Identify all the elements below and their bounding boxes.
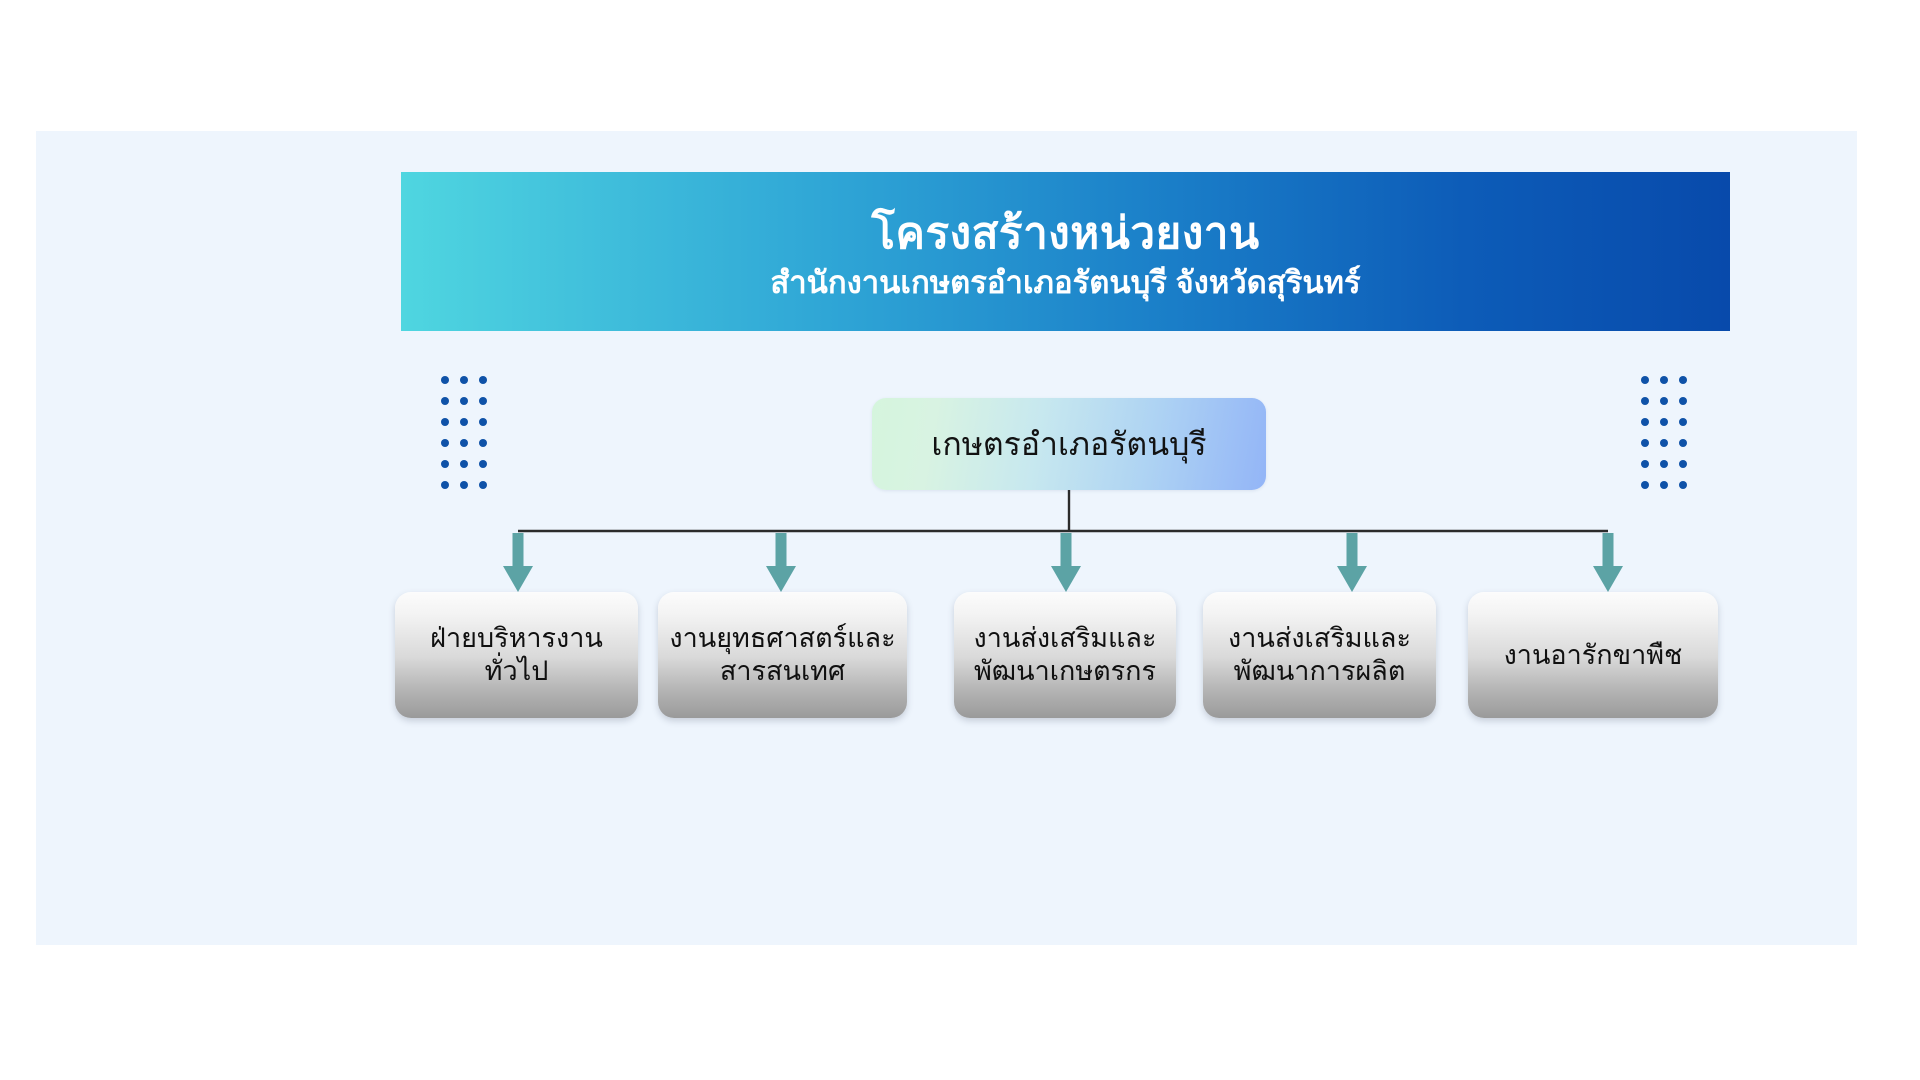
- org-node-label: งานส่งเสริมและ พัฒนาการผลิต: [1228, 622, 1411, 688]
- org-node-label: งานอารักขาพืช: [1504, 639, 1683, 672]
- org-node-ngan-songsoem-lae-phatthana-kasettrakon[interactable]: งานส่งเสริมและ พัฒนาเกษตรกร: [954, 592, 1176, 718]
- org-node-label: ฝ่ายบริหารงานทั่วไป: [405, 622, 628, 688]
- org-node-ngan-songsoem-lae-phatthanakan-phalit[interactable]: งานส่งเสริมและ พัฒนาการผลิต: [1203, 592, 1436, 718]
- org-node-ngan-arakkha-phuet[interactable]: งานอารักขาพืช: [1468, 592, 1718, 718]
- org-node-label: งานยุทธศาสตร์และ สารสนเทศ: [669, 622, 895, 688]
- diagram-stage: โครงสร้างหน่วยงาน สำนักงานเกษตรอำเภอรัตน…: [0, 0, 1920, 1080]
- org-node-phai-borihan-ngan-thuapai[interactable]: ฝ่ายบริหารงานทั่วไป: [395, 592, 638, 718]
- org-node-ngan-yutthasat-lae-sarasonthet[interactable]: งานยุทธศาสตร์และ สารสนเทศ: [658, 592, 907, 718]
- org-child-nodes: ฝ่ายบริหารงานทั่วไปงานยุทธศาสตร์และ สารส…: [0, 0, 1920, 1080]
- org-node-label: งานส่งเสริมและ พัฒนาเกษตรกร: [974, 622, 1157, 688]
